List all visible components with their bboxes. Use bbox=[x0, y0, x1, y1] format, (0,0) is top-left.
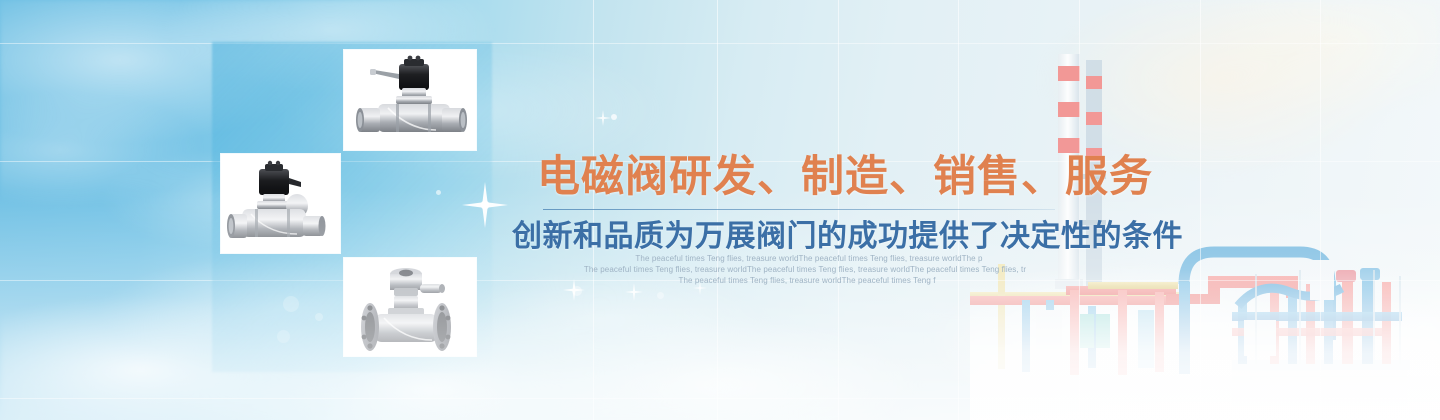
hero-copy: 电磁阀研发、制造、销售、服务 创新和品质为万展阀门的成功提供了决定性的条件 Th… bbox=[0, 0, 1440, 420]
hero-headline: 电磁阀研发、制造、销售、服务 bbox=[537, 153, 1153, 201]
hero-blurb-line-2: The peaceful times Teng flies, treasure … bbox=[505, 264, 1105, 275]
hero-blurb-line-1: The peaceful times Teng flies, treasure … bbox=[505, 253, 1105, 264]
hero-banner: 电磁阀研发、制造、销售、服务 创新和品质为万展阀门的成功提供了决定性的条件 Th… bbox=[0, 0, 1440, 420]
hero-subheadline: 创新和品质为万展阀门的成功提供了决定性的条件 bbox=[512, 219, 1183, 255]
hero-blurb-line-3: The peaceful times Teng flies, treasure … bbox=[505, 275, 1105, 286]
headline-divider bbox=[543, 209, 1055, 210]
hero-blurb: The peaceful times Teng flies, treasure … bbox=[505, 253, 1105, 286]
